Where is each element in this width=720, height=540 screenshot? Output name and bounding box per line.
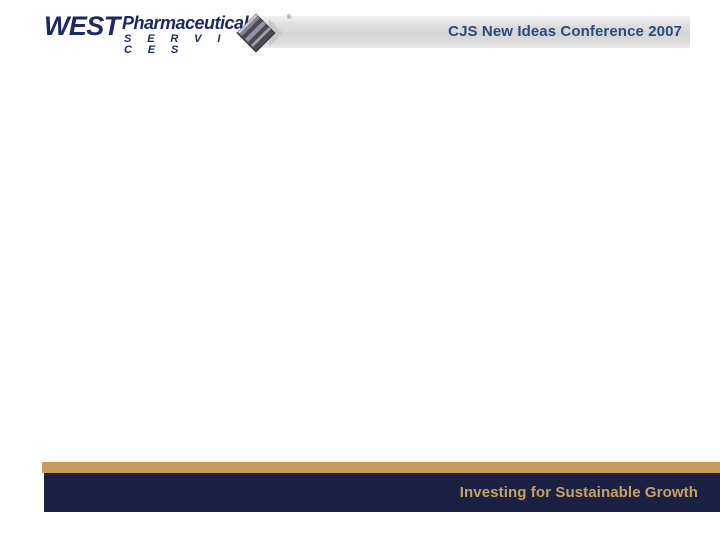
- logo-line-pharmaceutical: Pharmaceutical: [122, 14, 248, 32]
- west-diamond-chevron-icon: [236, 13, 292, 53]
- logo-line-services: S E R V I C E S: [124, 34, 244, 56]
- footer-navy-bar: Investing for Sustainable Growth: [44, 473, 720, 512]
- logo-wordmark: WEST Pharmaceutical S E R V I C E S: [44, 12, 244, 52]
- registered-trademark-icon: ®: [287, 15, 291, 21]
- conference-title: CJS New Ideas Conference 2007: [448, 16, 682, 48]
- presentation-slide: CJS New Ideas Conference 2007 WEST Pharm…: [0, 0, 720, 540]
- footer-divider: [42, 457, 720, 458]
- logo-brand-west: WEST: [44, 13, 120, 40]
- footer-gold-bar: [42, 462, 720, 473]
- slide-content-area: [0, 56, 720, 456]
- footer-tagline: Investing for Sustainable Growth: [460, 473, 698, 512]
- west-pharmaceutical-logo: WEST Pharmaceutical S E R V I C E S ®: [44, 12, 292, 54]
- header-gray-band: CJS New Ideas Conference 2007: [258, 16, 690, 48]
